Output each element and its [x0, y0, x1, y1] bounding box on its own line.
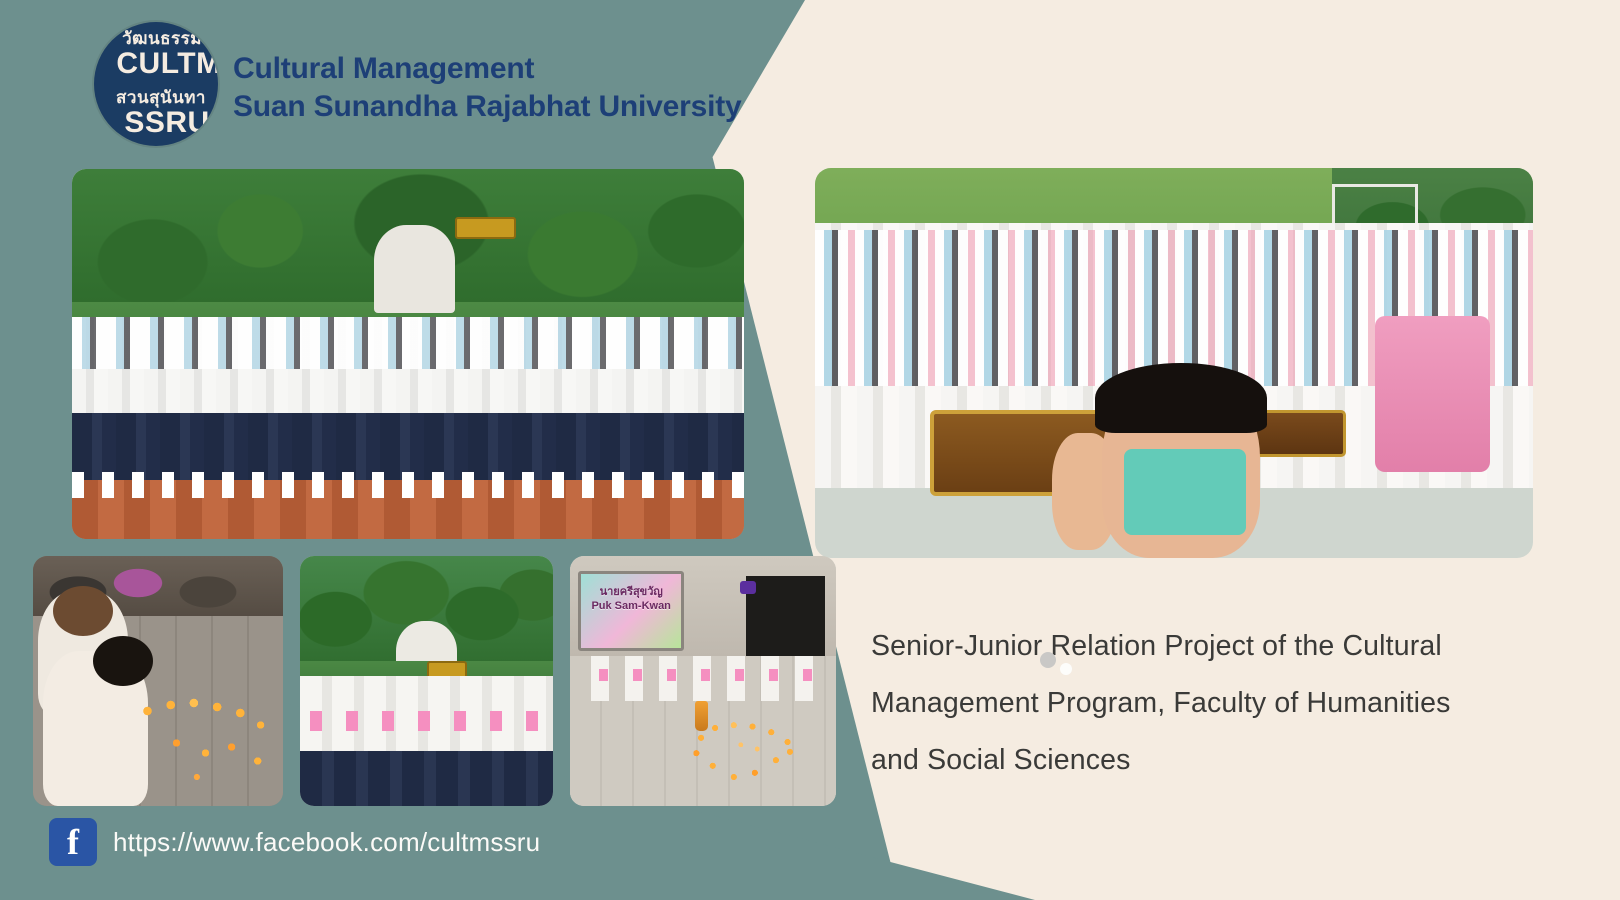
- photo5-heart-candles: [687, 721, 804, 791]
- photo1-gold-sign: [455, 217, 515, 239]
- photo-group-steps: [72, 169, 744, 539]
- facebook-url-link[interactable]: https://www.facebook.com/cultmssru: [113, 827, 540, 858]
- photo-selfie-field: [815, 168, 1533, 558]
- photo1-face-masks: [72, 317, 744, 369]
- photo5-screen-english: Puk Sam-Kwan: [583, 600, 679, 614]
- project-caption: Senior-Junior Relation Project of the Cu…: [871, 618, 1561, 789]
- title-line-1: Cultural Management: [233, 50, 742, 88]
- photo-candle-heart: นายครีสุขวัญ Puk Sam-Kwan: [570, 556, 836, 806]
- logo-english-top: CULTM: [116, 48, 218, 80]
- photo-candle-ceremony: [33, 556, 283, 806]
- footer: f https://www.facebook.com/cultmssru: [49, 818, 540, 866]
- decorative-dot-white: [1060, 663, 1072, 675]
- photo1-shrine: [374, 225, 455, 314]
- photo5-screen-text: นายครีสุขวัญ Puk Sam-Kwan: [583, 586, 679, 614]
- photo-small-group: [300, 556, 553, 806]
- photo4-uniform-skirts: [300, 751, 553, 806]
- photo3-student-front-hair: [93, 636, 153, 686]
- title-line-2: Suan Sunandha Rajabhat University: [233, 88, 742, 126]
- header: วัฒนธรรม CULTM สวนสุนันทา SSRU Cultural …: [0, 0, 860, 160]
- facebook-icon[interactable]: f: [49, 818, 97, 866]
- photo3-student-back-hair: [53, 586, 113, 636]
- decorative-dot-gray: [1040, 652, 1056, 668]
- caption-line-1: Senior-Junior Relation Project of the Cu…: [871, 618, 1561, 675]
- photo3-lit-candles: [133, 691, 278, 791]
- caption-line-2: Management Program, Faculty of Humanitie…: [871, 675, 1561, 732]
- logo-thai-bottom: สวนสุนันทา: [116, 89, 206, 107]
- photo2-pink-shirt-student: [1375, 316, 1490, 472]
- photo5-screen-thai: นายครีสุขวัญ: [583, 586, 679, 600]
- photo5-pink-name-tags: [591, 669, 814, 682]
- photo1-white-shoes: [72, 472, 744, 498]
- logo-english-bottom: SSRU: [124, 107, 209, 139]
- photo4-pink-name-tags: [300, 711, 553, 731]
- photo2-selfie-hair: [1095, 363, 1267, 433]
- photo5-dark-curtain: [746, 576, 826, 666]
- caption-line-3: and Social Sciences: [871, 732, 1561, 789]
- poster-title: Cultural Management Suan Sunandha Rajabh…: [233, 50, 742, 127]
- cultm-ssru-logo: วัฒนธรรม CULTM สวนสุนันทา SSRU: [94, 22, 218, 146]
- photo2-green-surgical-mask: [1124, 449, 1246, 535]
- poster-canvas: วัฒนธรรม CULTM สวนสุนันทา SSRU Cultural …: [0, 0, 1620, 900]
- photo5-projector: [740, 581, 756, 594]
- logo-thai-top: วัฒนธรรม: [122, 30, 202, 48]
